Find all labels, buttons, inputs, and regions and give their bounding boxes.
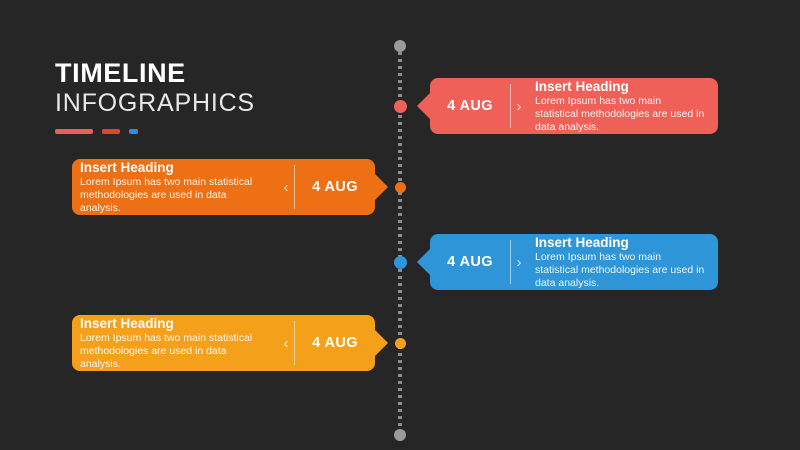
card-text-3: Insert Heading Lorem Ipsum has two main … (527, 234, 718, 290)
card-body-3: Lorem Ipsum has two main statistical met… (535, 251, 706, 290)
card-date-1: 4 AUG (430, 78, 510, 134)
card-heading-4: Insert Heading (80, 316, 266, 332)
timeline-card-3[interactable]: 4 AUG › Insert Heading Lorem Ipsum has t… (430, 234, 718, 290)
card-body-1: Lorem Ipsum has two main statistical met… (535, 95, 706, 134)
card-pointer-3 (417, 249, 430, 275)
infographic-canvas: TIMELINE INFOGRAPHICS 4 AUG › Insert Hea… (0, 0, 800, 450)
timeline-node-dot-3[interactable] (394, 256, 407, 269)
card-pointer-1 (417, 93, 430, 119)
card-body-4: Lorem Ipsum has two main statistical met… (80, 332, 266, 371)
card-heading-2: Insert Heading (80, 160, 266, 176)
card-pointer-2 (375, 174, 388, 200)
timeline-node-dot-1[interactable] (394, 100, 407, 113)
timeline-card-1[interactable]: 4 AUG › Insert Heading Lorem Ipsum has t… (430, 78, 718, 134)
chevron-left-icon-2: ‹ (278, 159, 294, 215)
page-subtitle: INFOGRAPHICS (55, 88, 375, 118)
card-body-2: Lorem Ipsum has two main statistical met… (80, 176, 266, 215)
accent-dash-small (129, 129, 138, 134)
card-text-1: Insert Heading Lorem Ipsum has two main … (527, 78, 718, 134)
chevron-left-icon-4: ‹ (278, 315, 294, 371)
timeline-node-dot-4[interactable] (395, 338, 406, 349)
card-heading-1: Insert Heading (535, 79, 706, 95)
timeline-node-dot-2[interactable] (395, 182, 406, 193)
card-pointer-4 (375, 330, 388, 356)
card-date-4: 4 AUG (295, 315, 375, 371)
card-text-2: Insert Heading Lorem Ipsum has two main … (72, 159, 278, 215)
card-text-4: Insert Heading Lorem Ipsum has two main … (72, 315, 278, 371)
chevron-right-icon-3: › (511, 234, 527, 290)
card-date-3: 4 AUG (430, 234, 510, 290)
accent-dash-mid (102, 129, 120, 134)
timeline-card-2[interactable]: Insert Heading Lorem Ipsum has two main … (72, 159, 375, 215)
accent-dash-long (55, 129, 93, 134)
card-date-2: 4 AUG (295, 159, 375, 215)
title-accent-dashes (55, 129, 375, 134)
timeline-card-4[interactable]: Insert Heading Lorem Ipsum has two main … (72, 315, 375, 371)
timeline-end-cap-dot (394, 429, 406, 441)
title-block: TIMELINE INFOGRAPHICS (55, 58, 375, 134)
card-heading-3: Insert Heading (535, 235, 706, 251)
chevron-right-icon-1: › (511, 78, 527, 134)
timeline-start-cap-dot (394, 40, 406, 52)
page-title: TIMELINE (55, 58, 375, 88)
